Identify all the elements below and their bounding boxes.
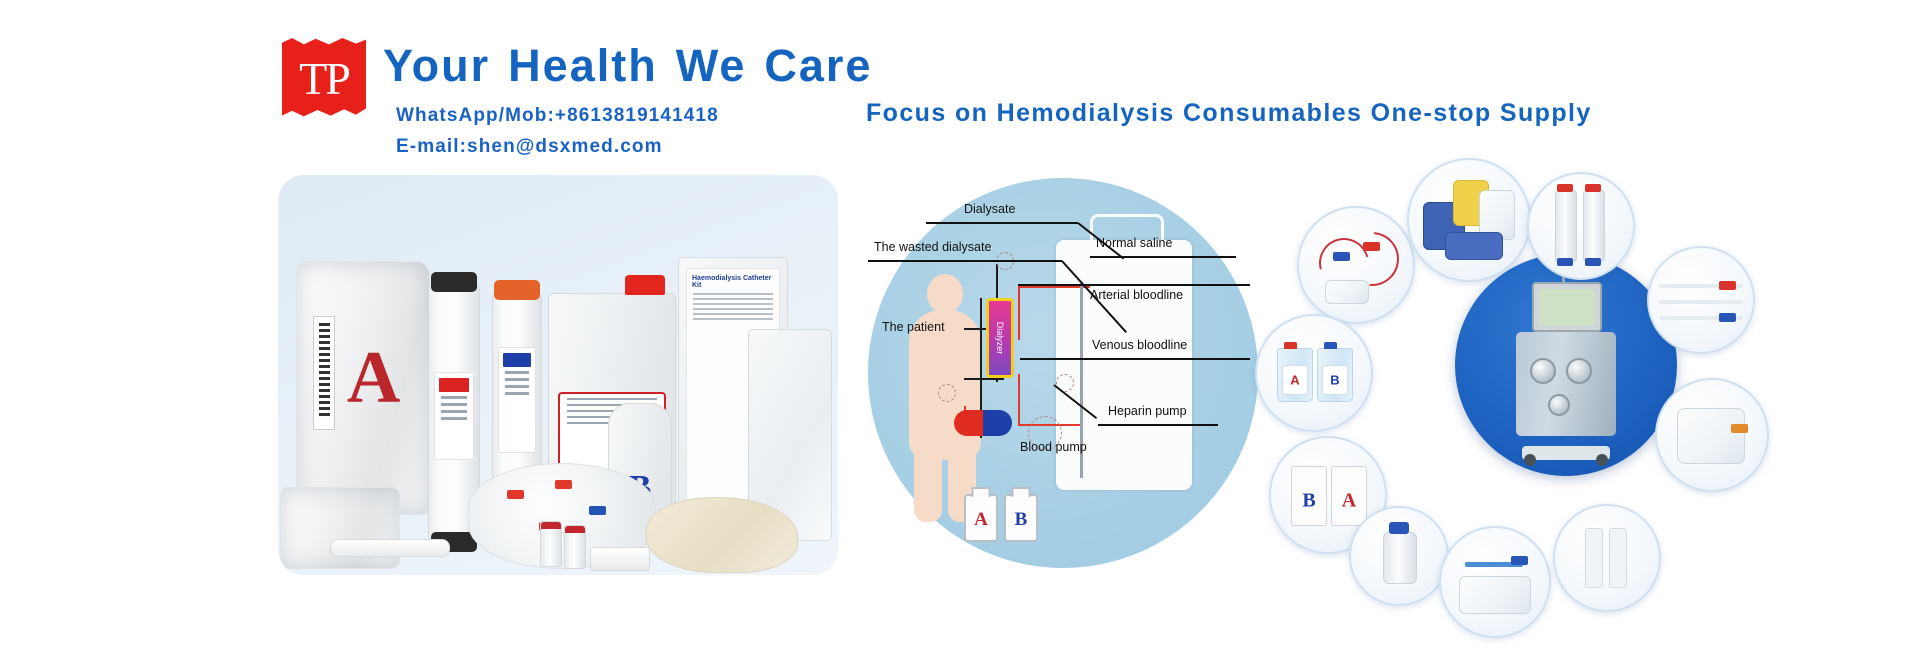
tubing-drip-chamber	[1325, 280, 1369, 304]
pressure-monitor-2	[938, 384, 956, 402]
tube-patient-access	[964, 378, 1004, 380]
tubing-connector-red	[1363, 242, 1380, 251]
hemodialysis-machine-illustration	[1510, 282, 1622, 460]
jerrycan-red-cap	[625, 275, 665, 295]
dialyzer-label	[434, 372, 474, 460]
rule-venous-bloodline	[1020, 358, 1250, 360]
needle-line-2	[1659, 300, 1743, 304]
patient-leg-left	[914, 442, 942, 522]
machine-body	[1516, 332, 1616, 436]
machine-wheel-left	[1524, 454, 1536, 466]
rule-heparin-pump	[1098, 424, 1218, 426]
brand-word-0: Your	[383, 40, 490, 91]
tagline: Focus on Hemodialysis Consumables One-st…	[866, 99, 1592, 128]
blue-pack-body	[1459, 576, 1531, 614]
syringe-body-2	[1609, 528, 1627, 588]
dialyzer-unit-1	[1555, 190, 1577, 262]
rule-dialysate	[926, 222, 1078, 224]
product-vial-1	[540, 521, 562, 567]
thumb-drainage-bag[interactable]	[1655, 378, 1769, 492]
rule-wasted-dialysate	[868, 260, 1062, 262]
dialyzer-cap-blue-1	[1557, 258, 1573, 266]
machine-knob-right	[1566, 358, 1592, 384]
dialyzer-icon-label: Dialyzer	[995, 322, 1005, 355]
contact-email: E-mail:shen@dsxmed.com	[396, 136, 663, 158]
perfusion-cap	[494, 280, 540, 300]
perfusion-cap-blue	[1389, 522, 1409, 534]
needle-hub-blue	[1719, 313, 1736, 322]
drainage-bag-body	[1677, 408, 1745, 464]
product-powder-bag-a: A	[296, 261, 430, 515]
machine-knob-lower	[1548, 394, 1570, 416]
dialyzer-icon: Dialyzer	[986, 298, 1014, 378]
thumb-syringe-pack[interactable]	[1553, 504, 1661, 612]
label-normal-saline: Normal saline	[1096, 236, 1172, 250]
kit-blue-pack	[1445, 232, 1503, 260]
barcode-label	[313, 316, 335, 430]
dialyzer-cap-blue-2	[1585, 258, 1601, 266]
tp-logo: TP	[282, 38, 366, 118]
jerrycan-a: A	[1277, 348, 1313, 402]
label-blood-pump: Blood pump	[1020, 440, 1087, 454]
powder-bag-a-letter: A	[1342, 489, 1356, 512]
jerrycan-b: B	[1317, 348, 1353, 402]
tubing-connector-blue	[589, 506, 606, 515]
rule-arterial-bloodline	[1018, 284, 1250, 286]
tubing-connector-red-1	[507, 490, 524, 499]
product-hemoperfusion-cartridge	[492, 291, 542, 489]
jerrycan-a-label: A	[1282, 365, 1308, 395]
drainage-bag-port	[1731, 424, 1748, 433]
label-heparin-pump: Heparin pump	[1108, 404, 1187, 418]
tubing-connector-red-2	[555, 480, 572, 489]
dialyzer-cap-red-2	[1585, 184, 1601, 192]
patient-head	[927, 274, 963, 314]
label-venous-bloodline: Venous bloodline	[1092, 338, 1187, 352]
perfusion-body	[1383, 532, 1417, 584]
container-b: B	[1004, 494, 1038, 542]
machine-screen	[1532, 282, 1602, 332]
product-circles-panel: A B B A	[1255, 150, 1875, 580]
product-needle-set	[330, 539, 450, 557]
bag-letter-a: A	[347, 335, 400, 420]
product-latex-gloves	[646, 497, 798, 573]
thumb-bloodline-tubing-set[interactable]	[1297, 206, 1415, 324]
brand-word-1: Health	[508, 40, 658, 91]
dialyzer-cap-red-1	[1557, 184, 1573, 192]
tube-arterial-red-2	[1018, 286, 1020, 340]
brand-word-3: Care	[764, 40, 872, 91]
label-patient: The patient	[882, 320, 945, 334]
label-dialysate: Dialysate	[964, 202, 1015, 216]
thumb-hemodialysis-machine[interactable]	[1455, 254, 1677, 476]
banner-header: TP YourHealthWeCare WhatsApp/Mob:+861381…	[0, 0, 1920, 145]
blood-pump-icon	[954, 410, 1012, 436]
brand-title: YourHealthWeCare	[383, 40, 890, 92]
powder-bag-b-letter: B	[1302, 489, 1315, 512]
contact-phone: WhatsApp/Mob:+8613819141418	[396, 105, 719, 127]
logo-text: TP	[282, 38, 366, 118]
brand-word-2: We	[676, 40, 747, 91]
machine-knob-left	[1530, 358, 1556, 384]
tube-venous-line-grey	[1080, 328, 1083, 478]
label-wasted-dialysate: The wasted dialysate	[874, 240, 991, 254]
container-b-letter: B	[1015, 509, 1028, 531]
needle-hub-red	[1719, 281, 1736, 290]
product-vial-2	[564, 525, 586, 569]
thumb-catheter-kit-tray[interactable]	[1407, 158, 1531, 282]
perfusion-label	[498, 347, 536, 453]
tube-venous-red-1	[1018, 374, 1020, 426]
blue-pack-connector	[1511, 556, 1528, 565]
thumb-concentrate-jerrycan-ab[interactable]: A B	[1255, 314, 1373, 432]
powder-bag-a: A	[1331, 466, 1367, 526]
tube-saline-drip-line	[1080, 282, 1083, 332]
thumb-av-fistula-needles[interactable]	[1647, 246, 1755, 354]
container-a: A	[964, 494, 998, 542]
thumb-dialyzer-pair[interactable]	[1527, 172, 1635, 280]
thumb-hemoperfusion-cartridge[interactable]	[1349, 506, 1449, 606]
rule-normal-saline	[1090, 256, 1236, 258]
product-photo-panel: A A Haemodialysis Catheter Kit B	[278, 175, 838, 575]
machine-wheel-right	[1596, 454, 1608, 466]
thumb-catheter-kit-blue-pack[interactable]	[1439, 526, 1551, 638]
syringe-body-1	[1585, 528, 1603, 588]
product-line-clamps	[590, 547, 650, 571]
dialyzer-cap-top	[431, 272, 477, 292]
hemodialysis-diagram-panel: Dialyzer A B Dialysate The wasted dialys…	[868, 178, 1258, 568]
label-arterial-bloodline: Arterial bloodline	[1090, 288, 1183, 302]
tubing-connector-blue	[1333, 252, 1350, 261]
powder-bag-b: B	[1291, 466, 1327, 526]
jerrycan-b-label: B	[1322, 365, 1348, 395]
container-a-letter: A	[974, 509, 988, 531]
dialyzer-unit-2	[1583, 190, 1605, 262]
